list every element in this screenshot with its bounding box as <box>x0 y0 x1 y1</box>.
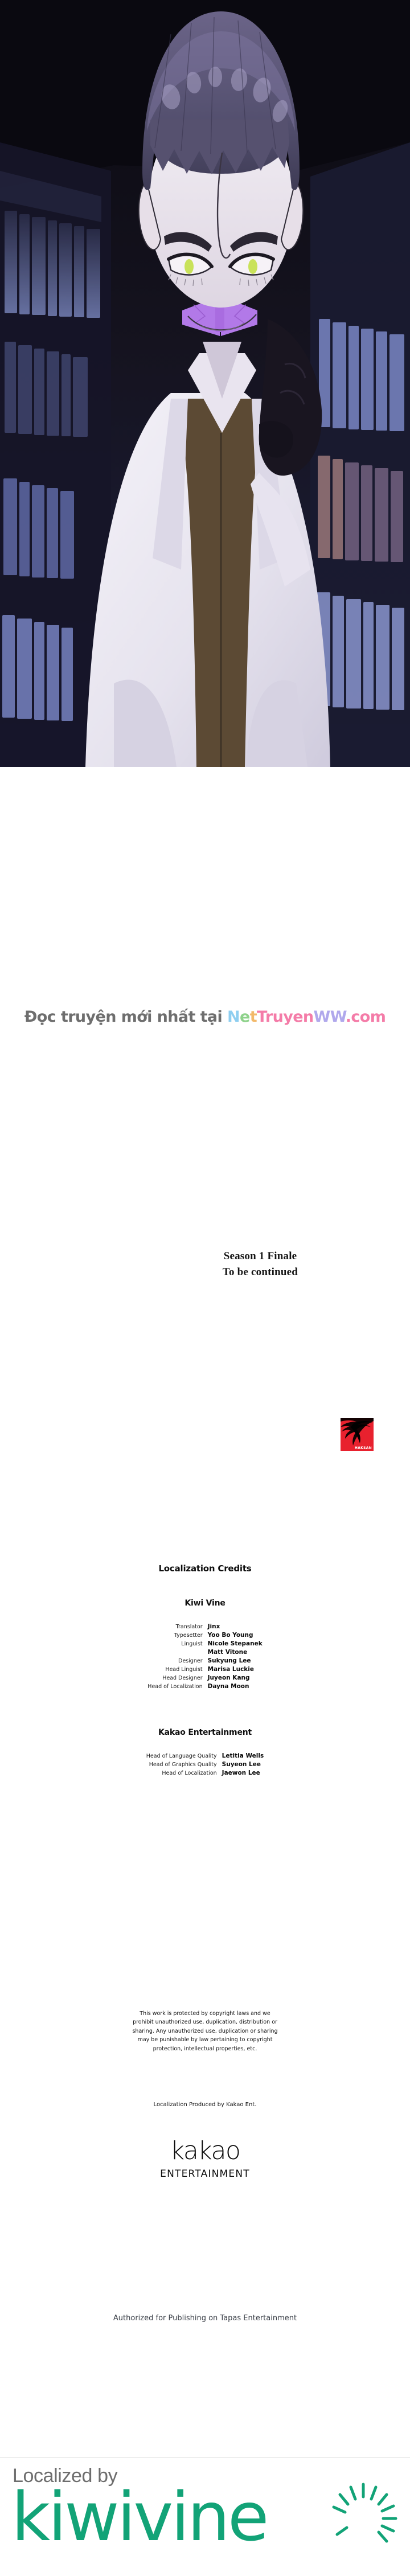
org-title-kakao-entertainment: Kakao Entertainment <box>0 1728 410 1737</box>
credit-row: Matt Vitone <box>147 1648 262 1656</box>
watermark-brand-ww: WW <box>314 1008 346 1026</box>
credit-row: Typesetter Yoo Bo Young <box>147 1631 262 1639</box>
watermark-prefix: Đọc truyện mới nhất tại <box>24 1008 227 1026</box>
watermark-brand-dotcom: .com <box>346 1008 386 1026</box>
credit-name: Dayna Moon <box>208 1682 263 1690</box>
credit-role: Linguist <box>147 1639 207 1648</box>
comic-page: Đọc truyện mới nhất tại NetTruyenWW.com … <box>0 0 410 2576</box>
season-finale-line: Season 1 Finale <box>55 1248 410 1264</box>
watermark-brand-T: T <box>257 1008 265 1026</box>
credit-row: Head of Localization Dayna Moon <box>147 1682 262 1690</box>
copyright-notice: This work is protected by copyright laws… <box>0 2009 410 2053</box>
kakao-subtitle: ENTERTAINMENT <box>0 2168 410 2180</box>
credit-role: Translator <box>147 1622 207 1631</box>
nettruyen-watermark: Đọc truyện mới nhất tại NetTruyenWW.com <box>0 1008 410 1026</box>
credit-name: Yoo Bo Young <box>208 1631 263 1639</box>
credit-row: Head Designer Juyeon Kang <box>147 1673 262 1682</box>
localization-credits-block: Localization Credits Kiwi Vine Translato… <box>0 1563 410 1777</box>
credit-table-kakao-entertainment: Head of Language Quality Letitia Wells H… <box>146 1751 264 1777</box>
kiwivine-banner: Localized by kiwivine <box>0 2458 410 2576</box>
watermark-brand-e: e <box>240 1008 250 1026</box>
credit-name: Marisa Luckie <box>208 1665 263 1673</box>
copyright-line-5: protection, intellectual properties, etc… <box>0 2045 410 2053</box>
tapas-authorization-line: Authorized for Publishing on Tapas Enter… <box>0 2314 410 2323</box>
comic-artwork-panel <box>0 0 410 767</box>
credit-role: Head Linguist <box>147 1665 207 1673</box>
credit-row: Designer Sukyung Lee <box>147 1656 262 1665</box>
watermark-brand-ruyen: ruyen <box>265 1008 314 1026</box>
credit-name: Jinx <box>208 1622 263 1631</box>
produced-by-line: Localization Produced by Kakao Ent. <box>0 2102 410 2108</box>
kiwivine-wordmark: kiwivine <box>11 2483 266 2550</box>
watermark-brand-n: N <box>227 1008 240 1026</box>
credit-name: Matt Vitone <box>208 1648 263 1656</box>
credit-role: Head of Localization <box>147 1682 207 1690</box>
credit-row: Head of Localization Jaewon Lee <box>146 1768 264 1777</box>
haksan-publisher-logo: HAKSAN <box>341 1418 374 1451</box>
artwork-illustration <box>0 0 410 767</box>
copyright-line-3: sharing. Any unauthorized use, duplicati… <box>0 2027 410 2036</box>
credit-table-kiwi-vine: Translator Jinx Typesetter Yoo Bo Young … <box>147 1622 262 1690</box>
kiwivine-sunburst-icon <box>329 2482 397 2550</box>
kakao-wordmark: kakao <box>0 2139 410 2164</box>
credit-name: Jaewon Lee <box>222 1768 264 1777</box>
credit-role: Typesetter <box>147 1631 207 1639</box>
credit-role: Designer <box>147 1656 207 1665</box>
credits-title: Localization Credits <box>0 1563 410 1574</box>
credit-role: Head of Graphics Quality <box>146 1760 222 1768</box>
credit-row: Linguist Nicole Stepanek <box>147 1639 262 1648</box>
haksan-wordmark: HAKSAN <box>355 1446 372 1450</box>
copyright-line-2: prohibit unauthorized use, duplication, … <box>0 2018 410 2026</box>
credit-row: Head of Language Quality Letitia Wells <box>146 1751 264 1760</box>
org-title-kiwi-vine: Kiwi Vine <box>0 1599 410 1608</box>
credit-row: Translator Jinx <box>147 1622 262 1631</box>
credit-name: Sukyung Lee <box>208 1656 263 1665</box>
credit-name: Letitia Wells <box>222 1751 264 1760</box>
credit-role: Head of Localization <box>146 1768 222 1777</box>
kakao-entertainment-logo: kakao ENTERTAINMENT <box>0 2139 410 2180</box>
watermark-brand-t: t <box>250 1008 257 1026</box>
credit-role: Head Designer <box>147 1673 207 1682</box>
credit-row: Head of Graphics Quality Suyeon Lee <box>146 1760 264 1768</box>
credit-row: Head Linguist Marisa Luckie <box>147 1665 262 1673</box>
credit-name: Suyeon Lee <box>222 1760 264 1768</box>
credit-role: Head of Language Quality <box>146 1751 222 1760</box>
credit-name: Nicole Stepanek <box>208 1639 263 1648</box>
season-finale-block: Season 1 Finale To be continued <box>55 1248 410 1280</box>
to-be-continued-line: To be continued <box>55 1264 410 1280</box>
credit-role <box>147 1648 207 1656</box>
copyright-line-1: This work is protected by copyright laws… <box>0 2009 410 2018</box>
copyright-line-4: may be punishable by law pertaining to c… <box>0 2036 410 2044</box>
credit-name: Juyeon Kang <box>208 1673 263 1682</box>
